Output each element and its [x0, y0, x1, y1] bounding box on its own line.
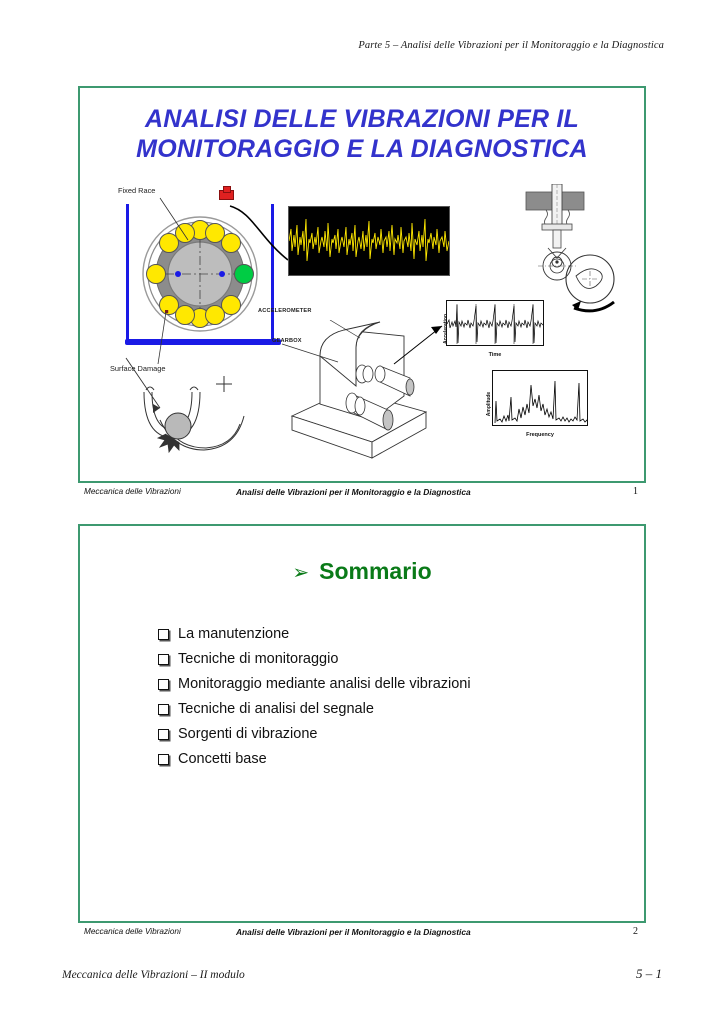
damage-detail-svg [116, 350, 256, 462]
plot-freq-svg [493, 371, 588, 426]
label-fixed-race: Fixed Race [118, 186, 155, 195]
summary-list: La manutenzione Tecniche di monitoraggio… [158, 622, 471, 772]
page-footer: Meccanica delle Vibrazioni – II modulo 5… [62, 966, 662, 982]
list-item-label: Sorgenti di vibrazione [178, 722, 317, 746]
slide-1-title-line-1: ANALISI DELLE VIBRAZIONI PER IL [80, 104, 644, 134]
amplitude-frequency-plot: Amplitude Frequency [478, 370, 588, 438]
list-item: Tecniche di monitoraggio [158, 647, 471, 671]
slide-2-footer: Meccanica delle Vibrazioni Analisi delle… [78, 924, 646, 944]
slide-1-footer-center: Analisi delle Vibrazioni per il Monitora… [236, 487, 471, 497]
arrow-bullet-icon: ➢ [292, 562, 309, 584]
page-footer-left: Meccanica delle Vibrazioni – II modulo [62, 969, 245, 981]
surface-damage-detail-figure [116, 350, 256, 462]
square-bullet-icon [158, 704, 169, 715]
list-item-label: Tecniche di monitoraggio [178, 647, 338, 671]
list-item: Concetti base [158, 747, 471, 771]
gearbox-svg [276, 320, 452, 466]
slide-1-frame: ANALISI DELLE VIBRAZIONI PER IL MONITORA… [78, 86, 646, 483]
square-bullet-icon [158, 729, 169, 740]
list-item: Sorgenti di vibrazione [158, 722, 471, 746]
gearbox-figure: GEARBOX [276, 320, 452, 466]
slide-2-heading: ➢Sommario [80, 558, 644, 585]
label-gearbox: GEARBOX [272, 338, 302, 344]
list-item-label: Tecniche di analisi del segnale [178, 697, 374, 721]
slide-2-footer-center: Analisi delle Vibrazioni per il Monitora… [236, 927, 471, 937]
slide-2: ➢Sommario La manutenzione Tecniche di mo… [78, 524, 646, 944]
slide-2-footer-left: Meccanica delle Vibrazioni [84, 927, 181, 936]
slide-1-footer: Meccanica delle Vibrazioni Analisi delle… [78, 484, 646, 504]
list-item: La manutenzione [158, 622, 471, 646]
vibration-waveform-display [288, 206, 450, 276]
label-accelerometer: ACCELEROMETER [258, 308, 312, 314]
list-item: Tecniche di analisi del segnale [158, 697, 471, 721]
list-item: Monitoraggio mediante analisi delle vibr… [158, 672, 471, 696]
waveform-svg [289, 207, 449, 275]
slide-2-heading-text: Sommario [319, 558, 431, 584]
page-footer-right: 5 – 1 [636, 966, 662, 982]
cam-mechanism-svg [498, 184, 628, 314]
slide-2-frame: ➢Sommario La manutenzione Tecniche di mo… [78, 524, 646, 923]
slide-1-footer-left: Meccanica delle Vibrazioni [84, 487, 181, 496]
list-item-label: Monitoraggio mediante analisi delle vibr… [178, 672, 471, 696]
list-item-label: Concetti base [178, 747, 267, 771]
slide-2-page-number: 2 [633, 926, 638, 937]
plot-freq-box [492, 370, 588, 426]
slide-1-page-number: 1 [633, 486, 638, 497]
square-bullet-icon [158, 679, 169, 690]
slide-1: ANALISI DELLE VIBRAZIONI PER IL MONITORA… [78, 86, 646, 504]
slide-1-title-line-2: MONITORAGGIO E LA DIAGNOSTICA [80, 134, 644, 164]
square-bullet-icon [158, 754, 169, 765]
plot-freq-xlabel: Frequency [492, 432, 588, 438]
slide-1-title: ANALISI DELLE VIBRAZIONI PER IL MONITORA… [80, 104, 644, 164]
square-bullet-icon [158, 654, 169, 665]
square-bullet-icon [158, 629, 169, 640]
page-header: Parte 5 – Analisi delle Vibrazioni per i… [60, 40, 664, 51]
plot-time-xlabel: Time [446, 352, 544, 358]
list-item-label: La manutenzione [178, 622, 289, 646]
cam-follower-mechanism-figure [498, 184, 628, 314]
